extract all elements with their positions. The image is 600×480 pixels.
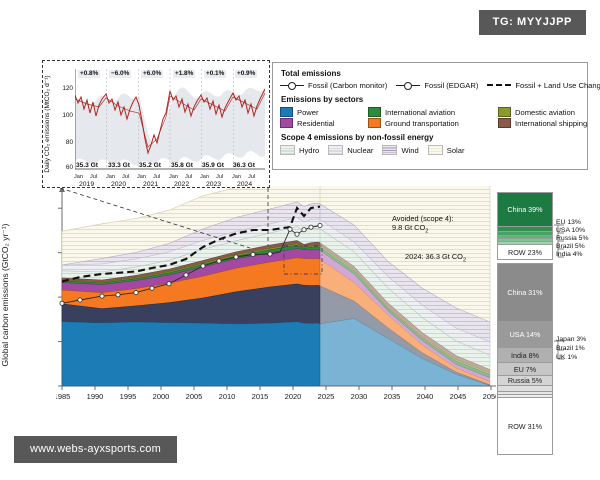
- nuclear-hatch-icon: [328, 145, 343, 155]
- legend-label-carbon-monitor: Fossil (Carbon monitor): [308, 81, 387, 90]
- svg-text:2030: 2030: [351, 392, 368, 401]
- legend-item-edgar: Fossil (EDGAR): [396, 81, 478, 90]
- total-2024-annotation: 2024: 36.3 Gt CO2: [405, 252, 466, 264]
- inset-year-2024: 2024: [237, 181, 252, 188]
- inset-pct-2020: −6.0%: [109, 70, 131, 78]
- bar-seg-india-2024: India 8%: [497, 347, 553, 362]
- bar-seg-usa-2024: USA 14%: [497, 321, 553, 347]
- residential-swatch-icon: [280, 118, 293, 128]
- inset-month-3: Jul: [122, 174, 129, 180]
- legend-label-edgar: Fossil (EDGAR): [424, 81, 478, 90]
- intl-shipping-swatch-icon: [498, 118, 511, 128]
- svg-text:1990: 1990: [87, 392, 104, 401]
- bar-seg-china-2024: China 31%: [497, 263, 553, 321]
- leader-usa-avoided: USA 10%: [556, 227, 585, 235]
- avoided-annotation: Avoided (scope 4): 9.8 Gt CO2: [392, 214, 454, 236]
- inset-total-2019: 35.3 Gt: [76, 162, 98, 169]
- legend-panel: Total emissions Fossil (Carbon monitor) …: [272, 62, 588, 170]
- leader-japan-2024: Japan 3%: [556, 336, 586, 344]
- inset-pct-2023: +0.1%: [204, 70, 226, 78]
- svg-text:2015: 2015: [252, 392, 269, 401]
- legend-scope4-heading: Scope 4 emissions by non-fossil energy: [281, 133, 580, 142]
- inset-year-2020: 2020: [111, 181, 126, 188]
- inset-month-4: Jan: [137, 174, 146, 180]
- inset-month-8: Jan: [200, 174, 209, 180]
- legend-sectors-grid: Power International aviation Domestic av…: [280, 107, 580, 128]
- inset-ytick-100: 100: [57, 112, 73, 119]
- main-y-axis-label: Global carbon emissions (GtCO₂ yr⁻¹): [0, 186, 12, 404]
- svg-text:2050: 2050: [483, 392, 496, 401]
- legend-label-nuclear: Nuclear: [347, 146, 373, 155]
- total-2024-sub: 2: [463, 257, 466, 263]
- inset-total-2021: 35.2 Gt: [139, 162, 161, 169]
- legend-item-power: Power: [280, 107, 368, 117]
- open-circle-line-icon: [280, 82, 304, 90]
- legend-item-ground-transportation: Ground transportation: [368, 118, 498, 128]
- inset-y-axis-label: Daily CO₂ emissions (MtCO₂ d⁻¹): [42, 63, 54, 185]
- legend-label-intl-shipping: International shipping: [515, 119, 587, 128]
- leader-russia-avoided: Russia 5%: [556, 235, 589, 243]
- inset-month-11: Jul: [248, 174, 255, 180]
- legend-item-intl-shipping: International shipping: [498, 118, 600, 128]
- hydro-hatch-icon: [280, 145, 295, 155]
- inset-month-7: Jul: [185, 174, 192, 180]
- inset-ytick-80: 80: [57, 139, 73, 146]
- wind-hatch-icon: [382, 145, 397, 155]
- inset-month-5: Jul: [153, 174, 160, 180]
- inset-year-2019: 2019: [79, 181, 94, 188]
- bar-seg-row-2024: ROW 31%: [497, 397, 553, 455]
- legend-sectors-heading: Emissions by sectors: [281, 95, 580, 104]
- legend-total-row: Fossil (Carbon monitor) Fossil (EDGAR) F…: [280, 81, 580, 90]
- inset-pct-2021: +6.0%: [141, 70, 163, 78]
- legend-item-domestic-aviation: Domestic aviation: [498, 107, 600, 117]
- bar-seg-row-avoided: ROW 23%: [497, 244, 553, 260]
- svg-text:2005: 2005: [186, 392, 203, 401]
- avoided-sub: 2: [425, 229, 428, 235]
- avoided-label-line1: Avoided (scope 4):: [392, 214, 454, 223]
- scope4-share-bar: China 39% ROW 23% China 31% USA 14% Indi…: [497, 192, 553, 455]
- leader-brazil-2024: Brazil 1%: [556, 345, 585, 353]
- legend-item-solar: Solar: [428, 145, 465, 155]
- bar-seg-china-avoided: China 39%: [497, 192, 553, 226]
- tg-badge: TG: MYYJJPP: [479, 10, 586, 35]
- svg-text:1995: 1995: [120, 392, 137, 401]
- inset-year-2022: 2022: [174, 181, 189, 188]
- svg-text:2045: 2045: [450, 392, 467, 401]
- legend-label-domestic-aviation: Domestic aviation: [515, 108, 575, 117]
- legend-label-ground-transportation: Ground transportation: [385, 119, 459, 128]
- svg-text:2020: 2020: [285, 392, 302, 401]
- inset-month-10: Jan: [232, 174, 241, 180]
- ground-transportation-swatch-icon: [368, 118, 381, 128]
- legend-label-solar: Solar: [447, 146, 465, 155]
- svg-text:2035: 2035: [384, 392, 401, 401]
- watermark-badge: www.webs-ayxsports.com: [14, 436, 177, 463]
- leader-brazil-avoided: Brazil 5%: [556, 243, 585, 251]
- inset-month-0: Jan: [74, 174, 83, 180]
- svg-text:2040: 2040: [417, 392, 434, 401]
- legend-item-nuclear: Nuclear: [328, 145, 373, 155]
- legend-total-heading: Total emissions: [281, 69, 580, 78]
- inset-month-2: Jan: [106, 174, 115, 180]
- svg-text:2000: 2000: [153, 392, 170, 401]
- daily-co2-inset: Daily CO₂ emissions (MtCO₂ d⁻¹) 120 100 …: [42, 60, 270, 188]
- inset-month-6: Jan: [169, 174, 178, 180]
- legend-item-carbon-monitor: Fossil (Carbon monitor): [280, 81, 387, 90]
- inset-pct-2022: +1.8%: [173, 70, 195, 78]
- svg-text:1985: 1985: [56, 392, 70, 401]
- dashed-line-icon: [487, 82, 511, 90]
- inset-total-2020: 33.3 Gt: [108, 162, 130, 169]
- bar-seg-russia-2024: Russia 5%: [497, 375, 553, 385]
- legend-label-wind: Wind: [401, 146, 418, 155]
- inset-year-2021: 2021: [143, 181, 158, 188]
- svg-text:2010: 2010: [219, 392, 236, 401]
- inset-month-1: Jul: [90, 174, 97, 180]
- inset-svg: [75, 69, 265, 173]
- domestic-aviation-swatch-icon: [498, 107, 511, 117]
- legend-label-luc: Fossil + Land Use Change (LUC): [515, 81, 600, 90]
- legend-item-hydro: Hydro: [280, 145, 319, 155]
- legend-scope4-row: Hydro Nuclear Wind Solar: [280, 145, 580, 155]
- intl-aviation-swatch-icon: [368, 107, 381, 117]
- power-swatch-icon: [280, 107, 293, 117]
- inset-pct-2024: +0.9%: [235, 70, 257, 78]
- inset-ytick-120: 120: [57, 85, 73, 92]
- inset-ytick-60: 60: [57, 164, 73, 171]
- inset-total-2023: 35.9 Gt: [202, 162, 224, 169]
- inset-year-2023: 2023: [206, 181, 221, 188]
- figure-root: TG: MYYJJPP www.webs-ayxsports.com Globa…: [0, 0, 600, 480]
- open-circle-line-icon: [396, 82, 420, 90]
- leader-india-avoided: India 4%: [556, 251, 582, 259]
- legend-item-luc: Fossil + Land Use Change (LUC): [487, 81, 600, 90]
- inset-total-2022: 35.8 Gt: [171, 162, 193, 169]
- legend-item-wind: Wind: [382, 145, 418, 155]
- avoided-label-line2: 9.8 Gt CO: [392, 223, 425, 232]
- svg-text:2025: 2025: [318, 392, 335, 401]
- legend-label-intl-aviation: International aviation: [385, 108, 455, 117]
- solar-hatch-icon: [428, 145, 443, 155]
- leader-eu-avoided: EU 13%: [556, 219, 581, 227]
- inset-pct-2019: +0.8%: [78, 70, 100, 78]
- bar-seg-eu-2024: EU 7%: [497, 362, 553, 375]
- legend-item-intl-aviation: International aviation: [368, 107, 498, 117]
- legend-item-residential: Residential: [280, 118, 368, 128]
- inset-month-9: Jul: [216, 174, 223, 180]
- leader-uk-2024: UK 1%: [556, 354, 577, 362]
- legend-label-power: Power: [297, 108, 319, 117]
- total-2024-label: 2024: 36.3 Gt CO: [405, 252, 463, 261]
- legend-label-hydro: Hydro: [299, 146, 319, 155]
- legend-label-residential: Residential: [297, 119, 335, 128]
- inset-total-2024: 36.3 Gt: [233, 162, 255, 169]
